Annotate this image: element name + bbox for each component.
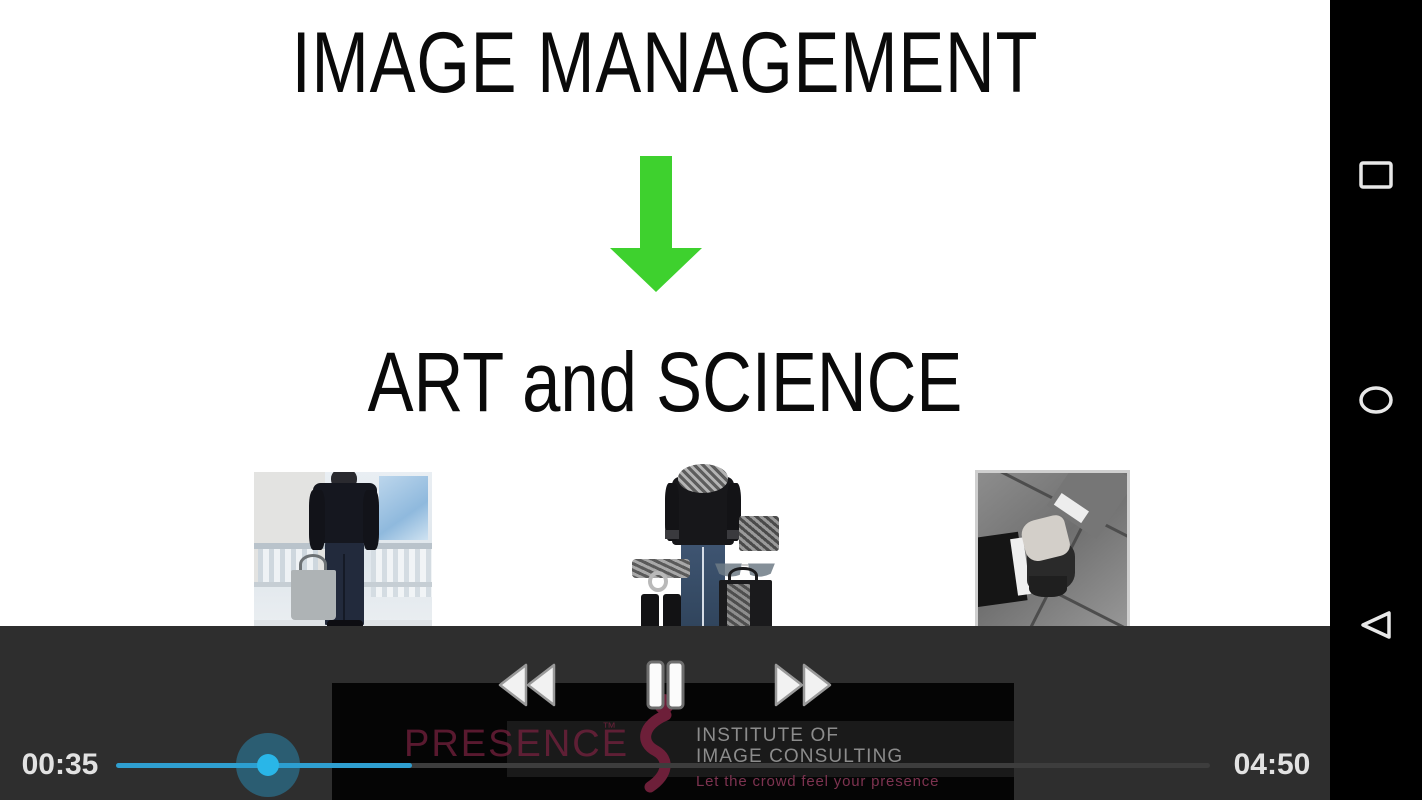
photo-detail — [665, 530, 680, 540]
seek-bar[interactable] — [116, 763, 1210, 769]
total-time-label: 04:50 — [1222, 748, 1322, 782]
photo-detail — [739, 516, 779, 551]
photo-detail — [379, 476, 429, 540]
photo-detail — [363, 490, 379, 551]
photo-detail — [343, 554, 345, 622]
rewind-icon[interactable] — [496, 657, 558, 713]
player-controls-overlay: PRESENCE ™ INSTITUTE OF IMAGE CONSULTING… — [0, 626, 1330, 800]
elapsed-time-label: 00:35 — [10, 748, 110, 782]
slide-subtitle: ART and SCIENCE — [120, 334, 1211, 431]
logo-tagline: Let the crowd feel your presence — [696, 773, 939, 790]
square-icon — [1359, 161, 1393, 189]
photo-handshake — [975, 470, 1130, 648]
trademark-icon: ™ — [602, 719, 616, 735]
device-screen: IMAGE MANAGEMENT ART and SCIENCE — [0, 0, 1422, 800]
nav-recents-button[interactable] — [1330, 129, 1422, 221]
nav-home-button[interactable] — [1330, 354, 1422, 446]
logo-institute-line-1: INSTITUTE OF — [696, 725, 839, 747]
photo-detail — [1029, 576, 1068, 597]
down-arrow-icon — [610, 156, 702, 292]
nav-back-button[interactable] — [1330, 579, 1422, 671]
slide-title: IMAGE MANAGEMENT — [133, 14, 1197, 113]
fast-forward-icon[interactable] — [772, 657, 834, 713]
android-navigation-bar — [1330, 0, 1422, 800]
circle-icon — [1358, 385, 1394, 415]
photo-detail — [309, 490, 325, 551]
seek-thumb[interactable] — [236, 733, 300, 797]
photo-detail — [371, 543, 432, 596]
triangle-left-icon — [1359, 609, 1393, 641]
photo-detail — [678, 464, 729, 493]
photo-detail — [702, 547, 704, 638]
photo-businesswoman — [254, 472, 432, 650]
video-surface[interactable]: IMAGE MANAGEMENT ART and SCIENCE — [0, 0, 1330, 800]
photo-outfit-flatlay — [612, 458, 794, 652]
pause-icon[interactable] — [634, 657, 696, 713]
logo-brand-text: PRESENCE — [404, 723, 629, 766]
photo-detail — [291, 570, 336, 620]
